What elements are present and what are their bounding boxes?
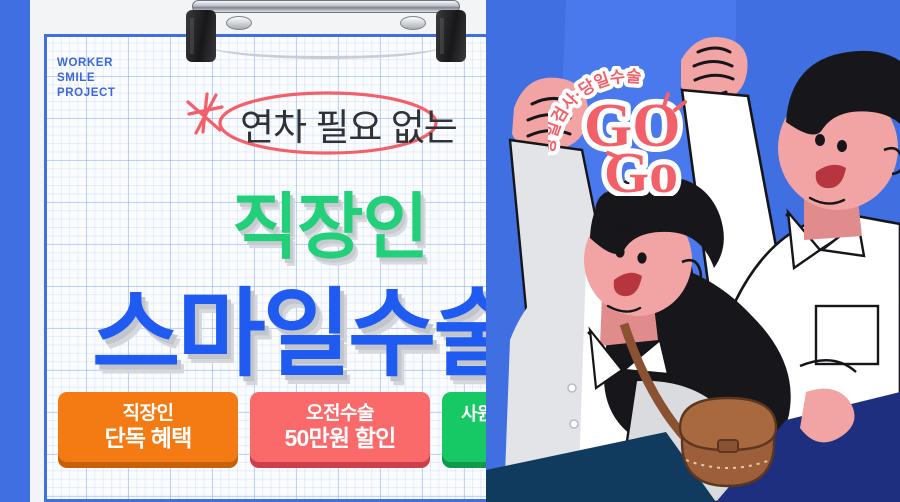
brand-label-line1: WORKER bbox=[57, 56, 116, 71]
badge-line1: 직장인 bbox=[123, 403, 174, 425]
promo-banner: WORKER SMILE PROJECT 연차 필요 없는 직장인 스마일수술 … bbox=[0, 0, 900, 502]
badge-morning-discount[interactable]: 오전수술 50만원 할인 bbox=[250, 392, 430, 462]
brand-label-line3: PROJECT bbox=[57, 86, 116, 101]
kicker-text: 연차 필요 없는 bbox=[240, 97, 457, 151]
brand-label: WORKER SMILE PROJECT bbox=[57, 56, 116, 101]
badge-line2: 단독 혜택 bbox=[104, 425, 191, 451]
left-blue-band bbox=[0, 0, 30, 502]
brand-label-line2: SMILE bbox=[57, 71, 116, 86]
headline-blue: 스마일수술 bbox=[92, 256, 519, 395]
badge-line1: 오전수술 bbox=[306, 403, 374, 425]
badge-line2: 50만원 할인 bbox=[284, 425, 395, 451]
clipboard-clip-icon bbox=[186, 0, 466, 68]
badge-worker-exclusive[interactable]: 직장인 단독 혜택 bbox=[58, 392, 238, 462]
sticker-go-bottom: Go bbox=[604, 140, 678, 196]
gogo-sticker: 당일검사·당일수술 당일검사·당일수술 GO GO Go Go bbox=[548, 66, 708, 196]
